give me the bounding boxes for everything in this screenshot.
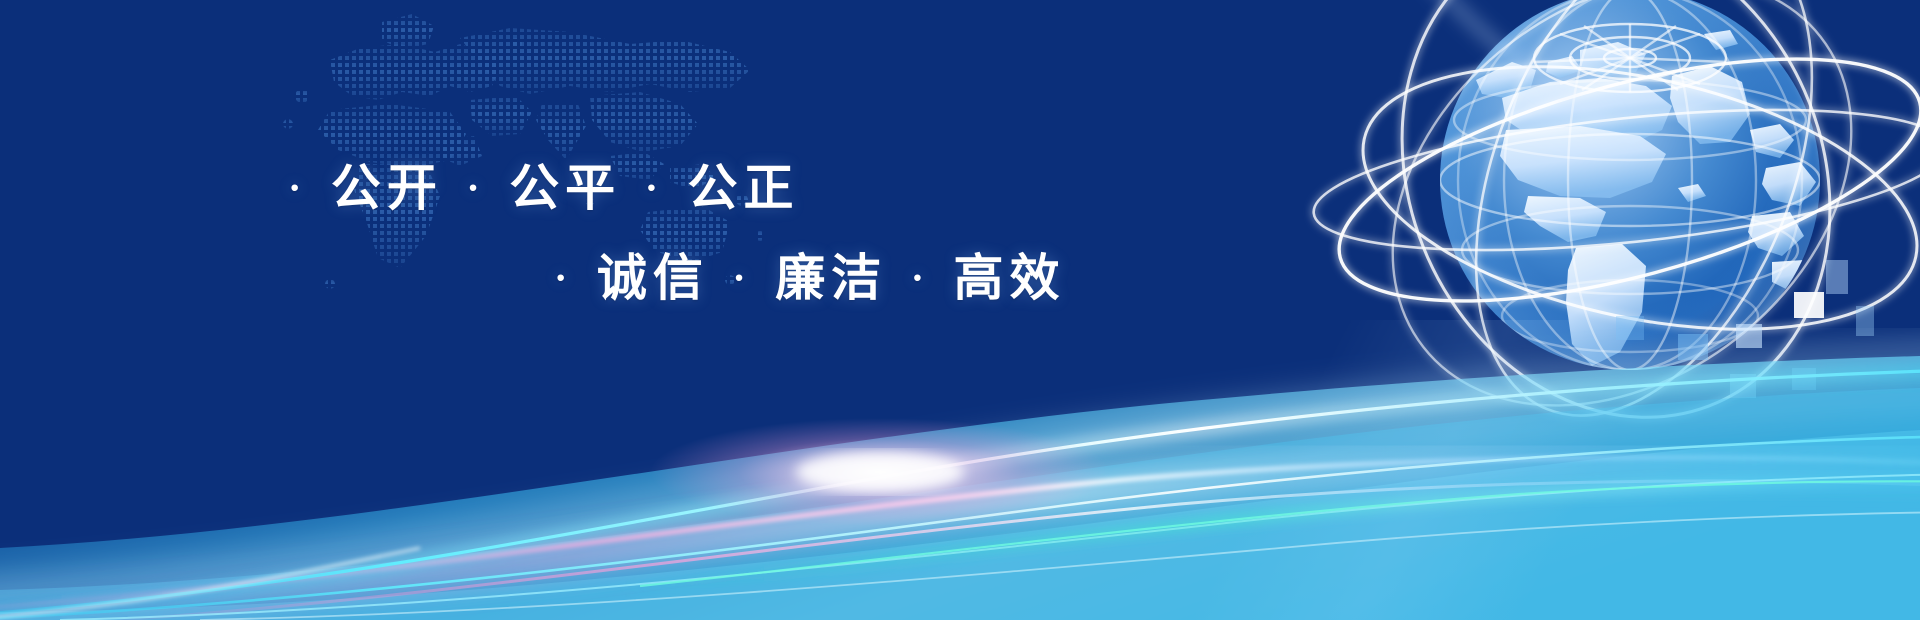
accent-square [1826,260,1848,294]
banner-hero: · 公开 · 公平 · 公正 · 诚信 · 廉洁 · 高效 [0,0,1920,620]
light-swoosh-streaks [0,290,1920,620]
